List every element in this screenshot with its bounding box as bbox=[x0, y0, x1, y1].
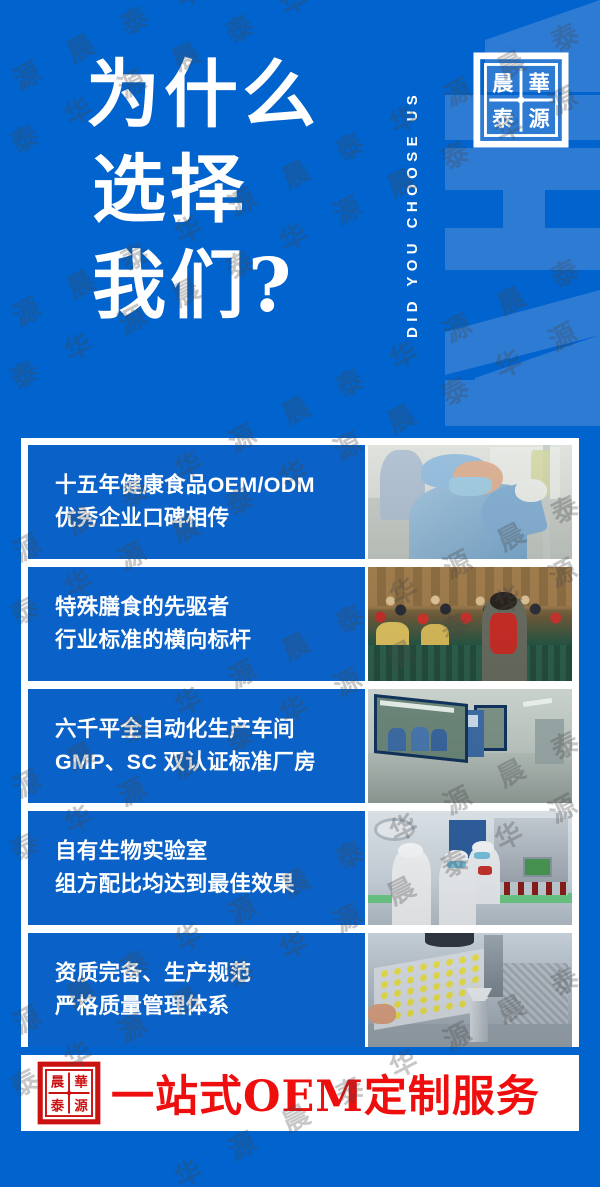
feature-3-line-2: GMP、SC 双认证标准厂房 bbox=[55, 746, 357, 779]
feature-image-3 bbox=[368, 689, 572, 803]
svg-text:晨: 晨 bbox=[492, 70, 514, 95]
feature-card-3[interactable]: 六千平全自动化生产车间 GMP、SC 双认证标准厂房 bbox=[28, 689, 365, 803]
banner-slogan: 一站式OEM定制服务 bbox=[111, 1062, 540, 1124]
feature-card-1[interactable]: 十五年健康食品OEM/ODM 优秀企业口碑相传 bbox=[28, 445, 365, 559]
feature-image-5 bbox=[368, 933, 572, 1047]
bottom-banner[interactable]: 晨 華 泰 源 一站式OEM定制服务 bbox=[21, 1055, 579, 1131]
feature-row-2[interactable]: 特殊膳食的先驱者 行业标准的横向标杆 bbox=[28, 567, 572, 681]
feature-1-line-2: 优秀企业口碑相传 bbox=[55, 502, 357, 535]
company-seal-red-icon: 晨 華 泰 源 bbox=[37, 1061, 101, 1125]
svg-text:華: 華 bbox=[529, 70, 550, 95]
feature-image-2 bbox=[368, 567, 572, 681]
header-section: 为什么 选择 我们? DID YOU CHOOSE US 晨 華 泰 源 bbox=[0, 0, 600, 438]
svg-text:晨: 晨 bbox=[51, 1075, 65, 1091]
svg-text:華: 華 bbox=[74, 1074, 88, 1091]
feature-row-1[interactable]: 十五年健康食品OEM/ODM 优秀企业口碑相传 bbox=[28, 445, 572, 559]
feature-list-frame: 十五年健康食品OEM/ODM 优秀企业口碑相传 特殊膳食的先驱者 行业标准的横向… bbox=[21, 438, 579, 1047]
feature-1-line-1: 十五年健康食品OEM/ODM bbox=[55, 469, 357, 502]
feature-card-4[interactable]: 自有生物实验室 组方配比均达到最佳效果 bbox=[28, 811, 365, 925]
feature-row-3[interactable]: 六千平全自动化生产车间 GMP、SC 双认证标准厂房 bbox=[28, 689, 572, 803]
feature-row-5[interactable]: 资质完备、生产规范 严格质量管理体系 bbox=[28, 933, 572, 1047]
feature-image-4 bbox=[368, 811, 572, 925]
feature-2-line-2: 行业标准的横向标杆 bbox=[55, 624, 357, 657]
feature-2-line-1: 特殊膳食的先驱者 bbox=[55, 591, 357, 624]
title-line-3: 我们? bbox=[92, 239, 320, 334]
feature-card-2[interactable]: 特殊膳食的先驱者 行业标准的横向标杆 bbox=[28, 567, 365, 681]
feature-5-line-2: 严格质量管理体系 bbox=[55, 990, 357, 1023]
feature-row-4[interactable]: 自有生物实验室 组方配比均达到最佳效果 bbox=[28, 811, 572, 925]
svg-text:源: 源 bbox=[74, 1097, 88, 1114]
feature-5-line-1: 资质完备、生产规范 bbox=[55, 957, 357, 990]
company-seal-icon: 晨 華 泰 源 bbox=[473, 52, 569, 148]
feature-card-5[interactable]: 资质完备、生产规范 严格质量管理体系 bbox=[28, 933, 365, 1047]
feature-4-line-2: 组方配比均达到最佳效果 bbox=[55, 868, 357, 901]
page-title: 为什么 选择 我们? bbox=[86, 48, 320, 334]
vertical-english-caption: DID YOU CHOOSE US bbox=[404, 18, 430, 410]
svg-text:源: 源 bbox=[529, 106, 550, 131]
title-line-1: 为什么 bbox=[86, 48, 320, 143]
feature-3-line-1: 六千平全自动化生产车间 bbox=[55, 713, 357, 746]
title-line-2: 选择 bbox=[92, 143, 320, 238]
svg-text:泰: 泰 bbox=[50, 1097, 65, 1114]
svg-text:泰: 泰 bbox=[492, 106, 514, 131]
feature-4-line-1: 自有生物实验室 bbox=[55, 835, 357, 868]
feature-image-1 bbox=[368, 445, 572, 559]
